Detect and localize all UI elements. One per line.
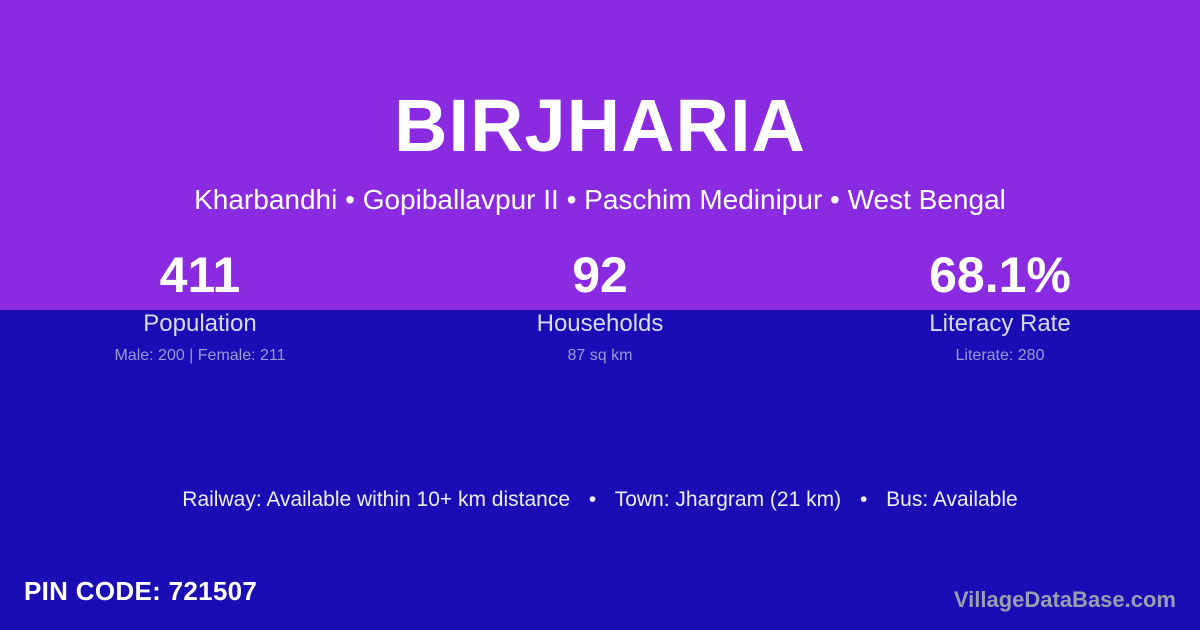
- stat-value-literacy-rate: 68.1%: [800, 246, 1200, 304]
- stat-sub-literacy-rate: Literate: 280: [800, 346, 1200, 366]
- brand-watermark: VillageDataBase.com: [954, 586, 1176, 614]
- info-separator-1: •: [576, 486, 609, 514]
- stat-value-population: 411: [0, 246, 400, 304]
- stat-households: 92 Households 87 sq km: [400, 246, 800, 366]
- info-separator-2: •: [847, 486, 880, 514]
- stat-label-households: Households: [400, 310, 800, 338]
- pin-code: PIN CODE: 721507: [24, 575, 257, 607]
- page-title: BIRJHARIA: [0, 84, 1200, 168]
- stat-literacy-rate: 68.1% Literacy Rate Literate: 280: [800, 246, 1200, 366]
- info-town: Town: Jhargram (21 km): [615, 488, 841, 511]
- info-bus: Bus: Available: [886, 488, 1018, 511]
- stat-sub-population: Male: 200 | Female: 211: [0, 346, 400, 366]
- stat-population: 411 Population Male: 200 | Female: 211: [0, 246, 400, 366]
- connectivity-info: Railway: Available within 10+ km distanc…: [0, 486, 1200, 514]
- stat-value-households: 92: [400, 246, 800, 304]
- village-info-card: BIRJHARIA Kharbandhi • Gopiballavpur II …: [0, 0, 1200, 630]
- stat-label-population: Population: [0, 310, 400, 338]
- info-railway: Railway: Available within 10+ km distanc…: [182, 488, 570, 511]
- stats-row: 411 Population Male: 200 | Female: 211 9…: [0, 246, 1200, 366]
- stat-label-literacy-rate: Literacy Rate: [800, 310, 1200, 338]
- stat-sub-households: 87 sq km: [400, 346, 800, 366]
- breadcrumb: Kharbandhi • Gopiballavpur II • Paschim …: [0, 183, 1200, 217]
